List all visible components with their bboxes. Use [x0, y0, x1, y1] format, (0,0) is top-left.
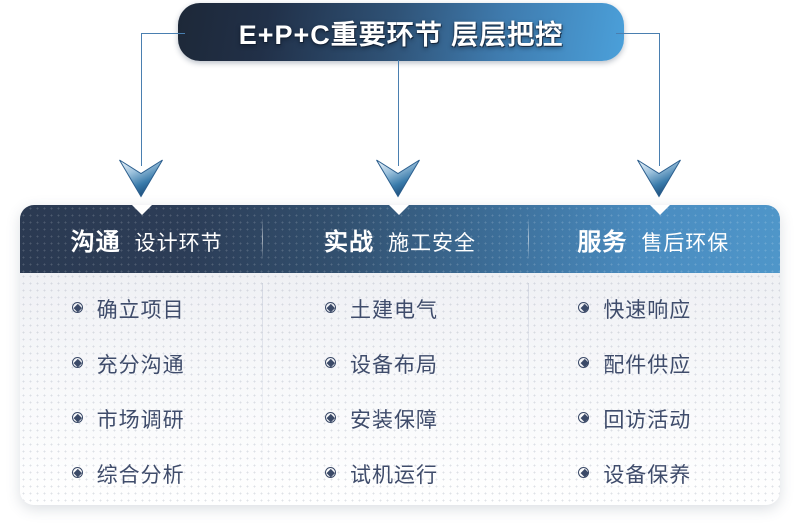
list-item[interactable]: 配件供应 [578, 336, 728, 391]
header-sub-execution: 施工安全 [388, 227, 476, 257]
list-item[interactable]: 设备保养 [578, 446, 728, 501]
list-item[interactable]: 确立项目 [72, 281, 222, 336]
header-strong-execution: 实战 [324, 222, 374, 257]
header-column-service[interactable]: 服务 售后环保 [527, 222, 780, 257]
header-divider-1 [262, 219, 263, 259]
list-item-label: 设备布局 [350, 349, 438, 379]
connector-left-horizontal [141, 33, 185, 34]
header-notch-left [131, 205, 153, 215]
connector-center-vertical [398, 60, 399, 166]
connector-right-horizontal [616, 33, 660, 34]
diamond-bullet-icon [72, 302, 85, 315]
header-sub-communication: 设计环节 [135, 227, 223, 257]
process-panel: 沟通 设计环节 实战 施工安全 服务 售后环保 确立项目 [20, 205, 780, 505]
connector-left-vertical [141, 33, 142, 166]
header-divider-2 [528, 219, 529, 259]
chevron-down-arrow-left [118, 156, 164, 198]
diamond-bullet-icon [578, 412, 591, 425]
body-divider-2 [528, 283, 529, 488]
diamond-bullet-icon [325, 412, 338, 425]
chevron-down-arrow-right [636, 156, 682, 198]
body-column-communication: 确立项目 充分沟通 市场调研 综合分析 [20, 273, 273, 505]
list-item-label: 市场调研 [97, 404, 185, 434]
list-item-label: 综合分析 [97, 459, 185, 489]
list-item[interactable]: 综合分析 [72, 446, 222, 501]
list-item[interactable]: 快速响应 [578, 281, 728, 336]
body-column-service: 快速响应 配件供应 回访活动 设备保养 [527, 273, 780, 505]
panel-header: 沟通 设计环节 实战 施工安全 服务 售后环保 [20, 205, 780, 273]
list-item[interactable]: 回访活动 [578, 391, 728, 446]
list-item-label: 安装保障 [350, 404, 438, 434]
diamond-bullet-icon [72, 357, 85, 370]
list-item-label: 配件供应 [603, 349, 691, 379]
connector-right-vertical [659, 33, 660, 166]
list-item-label: 快速响应 [603, 294, 691, 324]
header-notch-center [388, 205, 410, 215]
list-item-label: 设备保养 [603, 459, 691, 489]
header-strong-communication: 沟通 [71, 222, 121, 257]
list-item[interactable]: 市场调研 [72, 391, 222, 446]
list-item-label: 确立项目 [97, 294, 185, 324]
panel-body: 确立项目 充分沟通 市场调研 综合分析 土建电气 [20, 273, 780, 505]
diamond-bullet-icon [325, 357, 338, 370]
chevron-down-arrow-center [375, 156, 421, 198]
body-column-execution: 土建电气 设备布局 安装保障 试机运行 [273, 273, 526, 505]
list-item[interactable]: 设备布局 [325, 336, 475, 391]
diamond-bullet-icon [578, 467, 591, 480]
list-item[interactable]: 试机运行 [325, 446, 475, 501]
list-item-label: 充分沟通 [97, 349, 185, 379]
diamond-bullet-icon [325, 302, 338, 315]
header-strong-service: 服务 [577, 222, 627, 257]
header-notch-right [649, 205, 671, 215]
diamond-bullet-icon [578, 302, 591, 315]
list-item-label: 试机运行 [350, 459, 438, 489]
header-column-communication[interactable]: 沟通 设计环节 [20, 222, 273, 257]
banner-title: E+P+C重要环节 层层把控 [239, 13, 564, 52]
body-divider-1 [262, 283, 263, 488]
header-column-execution[interactable]: 实战 施工安全 [273, 222, 526, 257]
title-banner: E+P+C重要环节 层层把控 [178, 3, 624, 61]
list-item[interactable]: 充分沟通 [72, 336, 222, 391]
list-item[interactable]: 安装保障 [325, 391, 475, 446]
diamond-bullet-icon [72, 467, 85, 480]
header-sub-service: 售后环保 [641, 227, 729, 257]
list-item-label: 回访活动 [603, 404, 691, 434]
diamond-bullet-icon [578, 357, 591, 370]
diamond-bullet-icon [325, 467, 338, 480]
list-item-label: 土建电气 [350, 294, 438, 324]
list-item[interactable]: 土建电气 [325, 281, 475, 336]
diamond-bullet-icon [72, 412, 85, 425]
infographic-stage: E+P+C重要环节 层层把控 [0, 0, 800, 530]
